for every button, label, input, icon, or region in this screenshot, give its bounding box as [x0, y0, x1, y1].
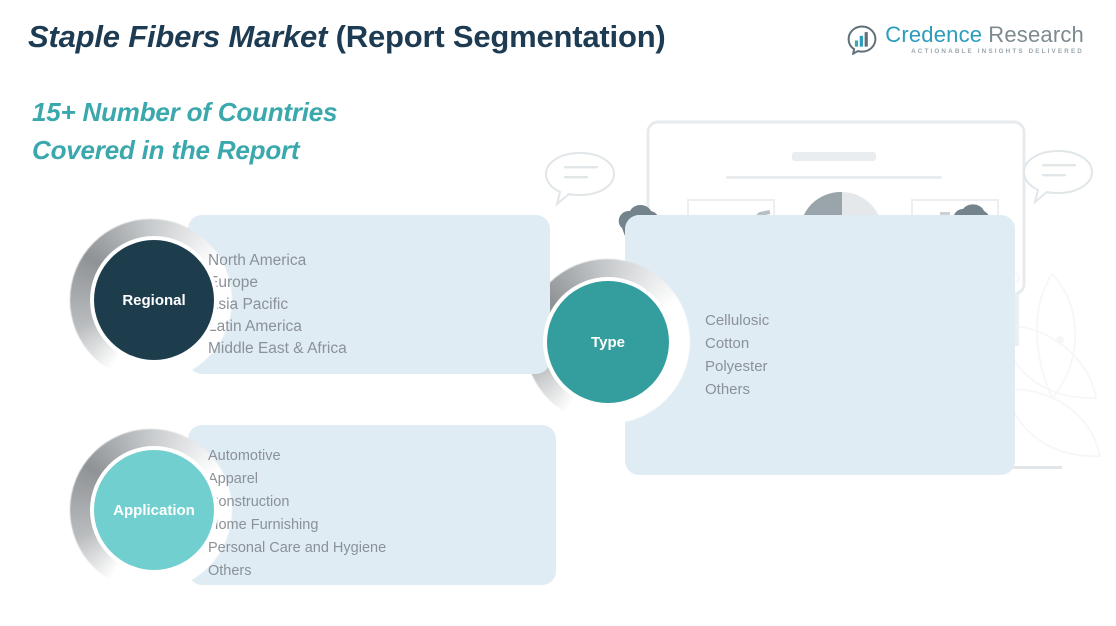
speech-bubble-icon: [1024, 151, 1092, 202]
subtitle-line-2: Covered in the Report: [32, 132, 337, 170]
subtitle-line-1: 15+ Number of Countries: [32, 94, 337, 132]
list-item: Home Furnishing: [208, 514, 386, 537]
list-item: Others: [705, 379, 769, 402]
speech-bubble-icon: [546, 153, 614, 204]
list-item: Europe: [208, 272, 347, 294]
list-item: Middle East & Africa: [208, 338, 347, 360]
list-item: Latin America: [208, 316, 347, 338]
list-item: Construction: [208, 491, 386, 514]
page-title-secondary: (Report Segmentation): [336, 19, 666, 54]
list-item: Polyester: [705, 356, 769, 379]
segment-application-circle[interactable]: Application: [94, 450, 214, 570]
segment-regional-list: North America Europe Asia Pacific Latin …: [208, 250, 347, 360]
segment-type-label: Type: [591, 334, 625, 351]
bar-chart-in-speech-bubble-icon: [847, 25, 877, 55]
segment-application-list: Automotive Apparel Construction Home Fur…: [208, 445, 386, 582]
logo-text: Credence Research Actionable Insights De…: [885, 24, 1084, 55]
page-title: Staple Fibers Market (Report Segmentatio…: [28, 20, 666, 54]
list-item: Others: [208, 560, 386, 583]
logo-name-primary: Credence: [885, 24, 982, 46]
list-item: Apparel: [208, 468, 386, 491]
segment-application-label: Application: [113, 502, 195, 519]
brand-logo: Credence Research Actionable Insights De…: [847, 24, 1084, 55]
segment-type-list: Cellulosic Cotton Polyester Others: [705, 310, 769, 402]
list-item: North America: [208, 250, 347, 272]
logo-tagline: Actionable Insights Delivered: [885, 49, 1084, 55]
list-item: Cellulosic: [705, 310, 769, 333]
subtitle: 15+ Number of Countries Covered in the R…: [32, 94, 337, 169]
segment-regional-circle[interactable]: Regional: [94, 240, 214, 360]
page-title-primary: Staple Fibers Market: [28, 19, 336, 54]
list-item: Personal Care and Hygiene: [208, 537, 386, 560]
logo-wordmark: Credence Research: [885, 24, 1084, 46]
list-item: Asia Pacific: [208, 294, 347, 316]
segment-type-circle[interactable]: Type: [547, 281, 669, 403]
list-item: Cotton: [705, 333, 769, 356]
segment-regional-label: Regional: [122, 292, 185, 309]
logo-name-secondary: Research: [988, 24, 1084, 46]
list-item: Automotive: [208, 445, 386, 468]
